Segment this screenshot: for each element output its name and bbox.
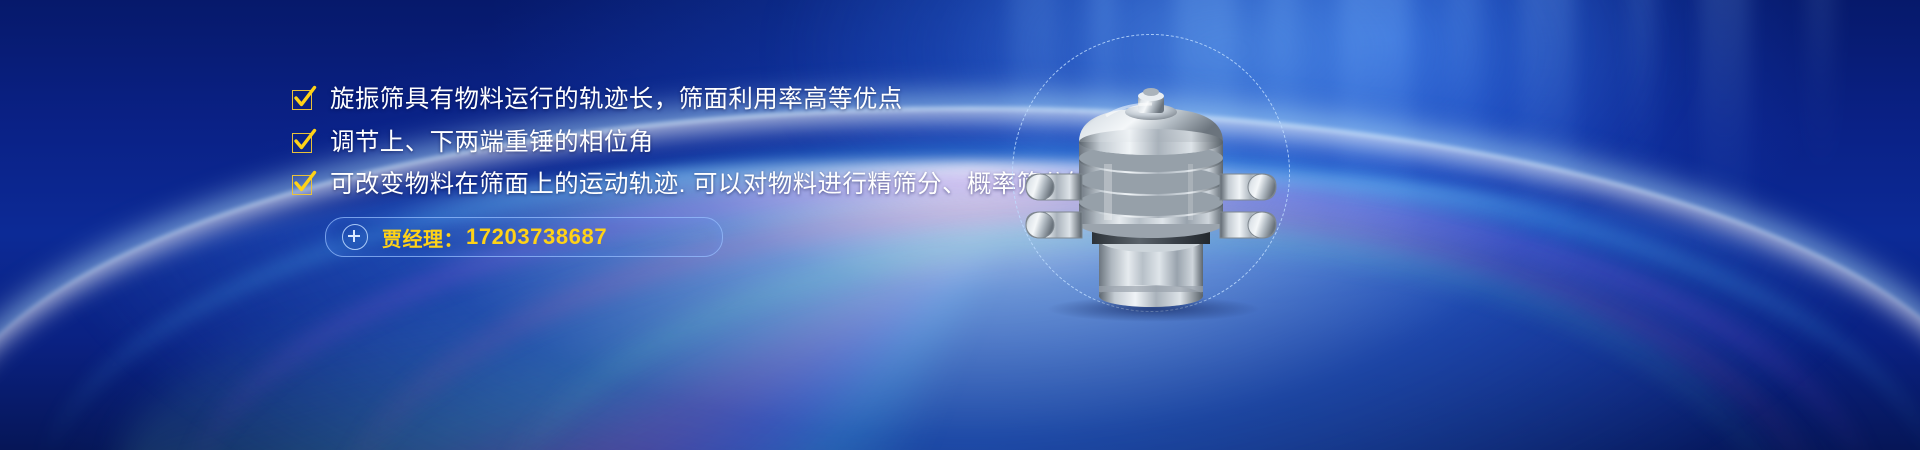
list-item: 旋振筛具有物料运行的轨迹长，筛面利用率高等优点 xyxy=(292,88,1091,113)
list-item: 调节上、下两端重锤的相位角 xyxy=(292,131,1091,156)
contact-separator: ： xyxy=(444,223,465,252)
banner-content: 旋振筛具有物料运行的轨迹长，筛面利用率高等优点 调节上、下两端重锤的相位角 xyxy=(0,0,1920,450)
plus-circle-icon xyxy=(342,224,368,250)
contact-button[interactable]: 贾经理 ： 17203738687 xyxy=(325,217,723,257)
rotary-vibrating-sieve-machine-icon xyxy=(1020,58,1282,320)
feature-list: 旋振筛具有物料运行的轨迹长，筛面利用率高等优点 调节上、下两端重锤的相位角 xyxy=(292,88,1091,216)
checkbox-checked-icon xyxy=(292,174,314,196)
checkbox-checked-icon xyxy=(292,132,314,154)
list-item: 可改变物料在筛面上的运动轨迹. 可以对物料进行精筛分、概率筛分等 xyxy=(292,173,1091,198)
checkbox-checked-icon xyxy=(292,89,314,111)
list-item-label: 调节上、下两端重锤的相位角 xyxy=(330,131,654,156)
contact-phone: 17203738687 xyxy=(466,224,607,250)
list-item-label: 旋振筛具有物料运行的轨迹长，筛面利用率高等优点 xyxy=(330,88,903,113)
list-item-label: 可改变物料在筛面上的运动轨迹. 可以对物料进行精筛分、概率筛分等 xyxy=(330,173,1091,198)
promo-banner: 旋振筛具有物料运行的轨迹长，筛面利用率高等优点 调节上、下两端重锤的相位角 xyxy=(0,0,1920,450)
product-image xyxy=(1012,34,1292,324)
contact-name: 贾经理 xyxy=(382,223,444,252)
